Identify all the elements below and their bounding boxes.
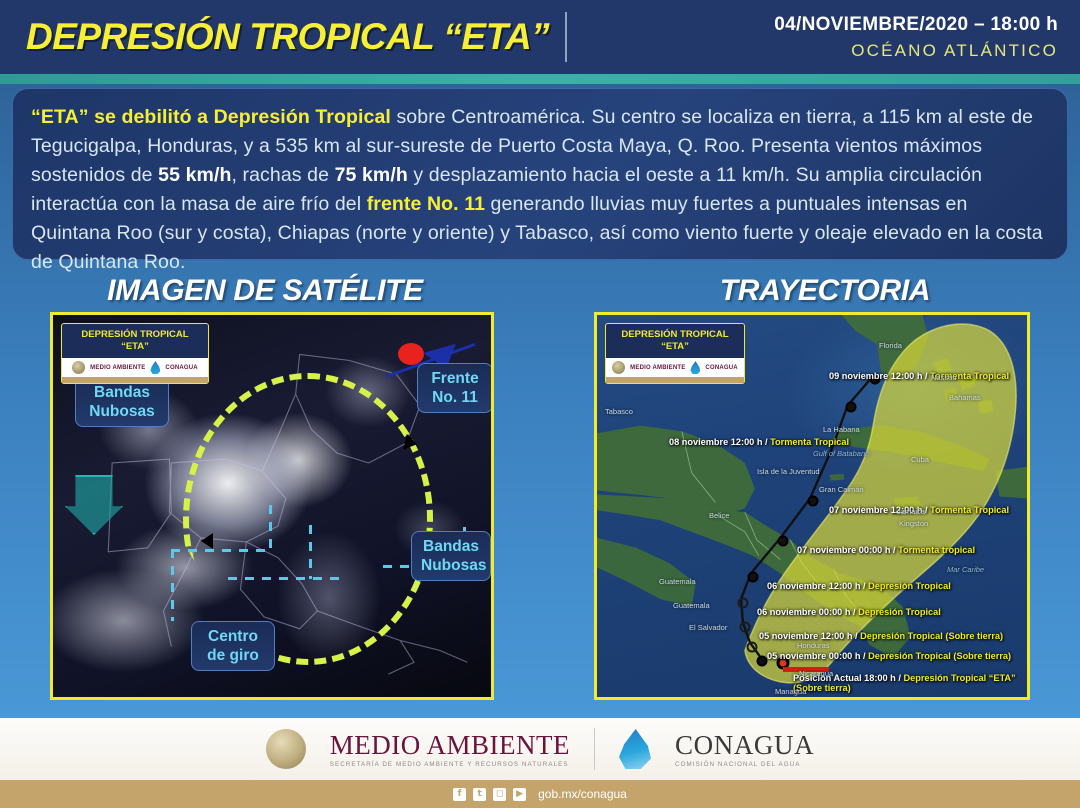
instagram-icon[interactable]: ◻ [493, 788, 506, 801]
badge-logos: MEDIO AMBIENTE CONAGUA [62, 358, 208, 377]
label-sep: / [860, 651, 868, 661]
track-point-07-nov-00[interactable] [778, 536, 789, 547]
label-line-1: Centro [201, 627, 265, 646]
geo-label-kingston: Kingston [899, 519, 928, 528]
badge-tan-strip [62, 377, 208, 383]
medio-ambiente-logo: MEDIO AMBIENTE SECRETARÍA DE MEDIO AMBIE… [330, 731, 570, 768]
trajectory-panel-badge: DEPRESIÓN TROPICAL “ETA” MEDIO AMBIENTE … [605, 323, 745, 384]
label-sep: / [762, 437, 770, 447]
geo-label-honduras: Honduras [797, 641, 830, 650]
geo-label-el-salvador: El Salvador [689, 623, 727, 632]
geo-label-la-habana: La Habana [823, 425, 860, 434]
trajectory-section-title: TRAYECTORIA [600, 274, 1050, 308]
label-cat: Tormenta Tropical [770, 437, 849, 447]
label-time: 09 noviembre 12:00 h [829, 371, 922, 381]
header-basin: OCÉANO ATLÁNTICO [851, 41, 1058, 61]
youtube-icon[interactable]: ▶ [513, 788, 526, 801]
badge-conagua: CONAGUA [165, 365, 197, 371]
label-sep: / [860, 581, 868, 591]
label-line-1: Bandas [421, 537, 481, 556]
header-datetime: 04/NOVIEMBRE/2020 – 18:00 h [774, 14, 1058, 36]
satellite-section-title: IMAGEN DE SATÉLITE [40, 274, 490, 308]
label-line-2: de giro [201, 646, 265, 665]
geo-label-guatemala-ciudad: Guatemala [673, 601, 710, 610]
water-drop-icon [619, 729, 651, 769]
badge-title: DEPRESIÓN TROPICAL “ETA” [606, 324, 744, 358]
label-cat: Depresión Tropical [858, 607, 941, 617]
summary-panel: “ETA” se debilitó a Depresión Tropical s… [12, 88, 1068, 260]
track-label-06-nov-12: 06 noviembre 12:00 h / Depresión Tropica… [767, 581, 951, 591]
infographic-page: DEPRESIÓN TROPICAL “ETA” 04/NOVIEMBRE/20… [0, 0, 1080, 808]
label-frente-no-11: Frente No. 11 [417, 363, 493, 413]
geo-label-managua: Managua [775, 687, 806, 696]
label-sep: / [922, 371, 930, 381]
mexican-eagle-icon [266, 729, 306, 769]
summary-seg-4: , rachas de [231, 164, 334, 186]
geo-label-jamaica: Jamaica [897, 507, 925, 516]
label-cat: Depresión Tropical (Sobre tierra) [860, 631, 1003, 641]
geo-label-nassau: Nassau [931, 373, 956, 382]
water-drop-icon [690, 361, 700, 374]
label-sep: / [850, 607, 858, 617]
page-title: DEPRESIÓN TROPICAL “ETA” [0, 16, 549, 58]
label-cat: Depresión Tropical “ETA” [903, 673, 1015, 683]
geo-label-cuba: Cuba [911, 455, 929, 464]
satellite-image-panel[interactable]: Bandas Nubosas Frente No. 11 Bandas Nubo… [50, 312, 494, 700]
mexican-eagle-icon [72, 361, 85, 374]
track-label-06-nov-00: 06 noviembre 00:00 h / Depresión Tropica… [757, 607, 941, 617]
satellite-panel-badge: DEPRESIÓN TROPICAL “ETA” MEDIO AMBIENTE … [61, 323, 209, 384]
connector-centro-vert2 [269, 505, 272, 551]
connector-bandas-izq-vert [309, 525, 312, 579]
label-centro-de-giro: Centro de giro [191, 621, 275, 671]
track-point-05-nov-00[interactable] [747, 642, 758, 653]
geo-label-guatemala-pais: Guatemala [659, 577, 696, 586]
badge-tan-strip [606, 377, 744, 383]
arc-arrow-left-icon [201, 533, 213, 549]
geo-label-florida: Florida [879, 341, 902, 350]
badge-medio-ambiente: MEDIO AMBIENTE [630, 365, 685, 371]
label-cat: Tormenta tropical [898, 545, 975, 555]
badge-title-line-2: “ETA” [66, 341, 204, 353]
badge-medio-ambiente: MEDIO AMBIENTE [90, 365, 145, 371]
trajectory-map-panel[interactable]: 09 noviembre 12:00 h / Tormenta Tropical… [594, 312, 1030, 700]
badge-title-line-1: DEPRESIÓN TROPICAL [66, 329, 204, 341]
header-divider [565, 12, 567, 62]
badge-conagua: CONAGUA [705, 365, 737, 371]
label-time: 07 noviembre 00:00 h [797, 545, 890, 555]
label-sep: / [890, 545, 898, 555]
geo-label-mar-caribe: Mar Caribe [947, 565, 984, 574]
label-time: 08 noviembre 12:00 h [669, 437, 762, 447]
track-label-07-nov-00: 07 noviembre 00:00 h / Tormenta tropical [797, 545, 975, 555]
label-time: 05 noviembre 12:00 h [759, 631, 852, 641]
track-label-05-nov-12: 05 noviembre 12:00 h / Depresión Tropica… [759, 631, 1003, 641]
summary-text: “ETA” se debilitó a Depresión Tropical s… [31, 103, 1049, 277]
track-point-07-nov-12[interactable] [808, 496, 819, 507]
badge-logos: MEDIO AMBIENTE CONAGUA [606, 358, 744, 377]
label-cat: Tormenta Tropical [930, 505, 1009, 515]
header-meta: 04/NOVIEMBRE/2020 – 18:00 h OCÉANO ATLÁN… [589, 14, 1080, 61]
label-time: 05 noviembre 00:00 h [767, 651, 860, 661]
track-label-09-nov-12: 09 noviembre 12:00 h / Tormenta Tropical [829, 371, 1009, 381]
track-point-06-nov-12[interactable] [748, 572, 759, 583]
label-sep: / [852, 631, 860, 641]
label-line-1: Frente [427, 369, 483, 388]
footer-logo-bar: MEDIO AMBIENTE SECRETARÍA DE MEDIO AMBIE… [0, 718, 1080, 780]
facebook-icon[interactable]: f [453, 788, 466, 801]
conagua-logo: CONAGUA COMISIÓN NACIONAL DEL AGUA [675, 731, 814, 768]
badge-title-line-2: “ETA” [610, 341, 740, 353]
geo-label-golfo-batabano: Gulf of Batabanó [813, 449, 869, 458]
geo-label-bahamas: Bahamas [949, 393, 981, 402]
track-point-08-nov-12[interactable] [846, 402, 857, 413]
connector-centro-vert [171, 549, 174, 621]
badge-title-line-1: DEPRESIÓN TROPICAL [610, 329, 740, 341]
geo-label-nicaragua: Nicaragua [799, 669, 833, 678]
track-point-black-current[interactable] [757, 656, 768, 667]
label-time: 06 noviembre 00:00 h [757, 607, 850, 617]
summary-highlight-1: “ETA” se debilitó a Depresión Tropical [31, 106, 391, 128]
label-line-2: Nubosas [421, 556, 481, 575]
track-point-05-nov-12[interactable] [740, 622, 751, 633]
label-cat: Depresión Tropical [868, 581, 951, 591]
label-line-1: Bandas [85, 383, 159, 402]
label-bandas-nubosas-derecha: Bandas Nubosas [411, 531, 491, 581]
medio-ambiente-title: MEDIO AMBIENTE [330, 731, 570, 760]
footer-social-bar: f t ◻ ▶ gob.mx/conagua [0, 780, 1080, 808]
track-point-06-nov-00[interactable] [738, 598, 749, 609]
label-cat: Depresión Tropical (Sobre tierra) [868, 651, 1011, 661]
label-cat-line2: (Sobre tierra) [793, 683, 1016, 693]
water-drop-icon [150, 361, 160, 374]
label-time: 06 noviembre 12:00 h [767, 581, 860, 591]
twitter-icon[interactable]: t [473, 788, 486, 801]
footer-logos: MEDIO AMBIENTE SECRETARÍA DE MEDIO AMBIE… [266, 728, 814, 770]
geo-label-belice: Belice [709, 511, 729, 520]
mexican-eagle-icon [612, 361, 625, 374]
summary-wind: 55 km/h [158, 164, 231, 186]
medio-ambiente-subtitle: SECRETARÍA DE MEDIO AMBIENTE Y RECURSOS … [330, 761, 570, 768]
summary-front: frente No. 11 [367, 193, 485, 215]
track-label-05-nov-00: 05 noviembre 00:00 h / Depresión Tropica… [767, 651, 1011, 661]
page-header: DEPRESIÓN TROPICAL “ETA” 04/NOVIEMBRE/20… [0, 0, 1080, 74]
summary-gusts: 75 km/h [335, 164, 408, 186]
track-label-08-nov-12: 08 noviembre 12:00 h / Tormenta Tropical [669, 437, 849, 447]
label-line-2: No. 11 [427, 388, 483, 407]
geo-label-isla-juventud: Isla de la Juventud [757, 467, 820, 476]
connector-bandas-izq [228, 577, 346, 580]
header-teal-divider [0, 74, 1080, 84]
geo-label-tabasco: Tabasco [605, 407, 633, 416]
label-line-2: Nubosas [85, 402, 159, 421]
footer-url[interactable]: gob.mx/conagua [538, 787, 627, 801]
conagua-subtitle: COMISIÓN NACIONAL DEL AGUA [675, 761, 814, 768]
badge-title: DEPRESIÓN TROPICAL “ETA” [62, 324, 208, 358]
front-red-marker [398, 343, 424, 365]
conagua-title: CONAGUA [675, 731, 814, 760]
geo-label-gran-caiman: Gran Caimán [819, 485, 864, 494]
footer-divider [594, 728, 595, 770]
label-bandas-nubosas-izquierda: Bandas Nubosas [75, 377, 169, 427]
connector-centro-horiz [171, 549, 271, 552]
